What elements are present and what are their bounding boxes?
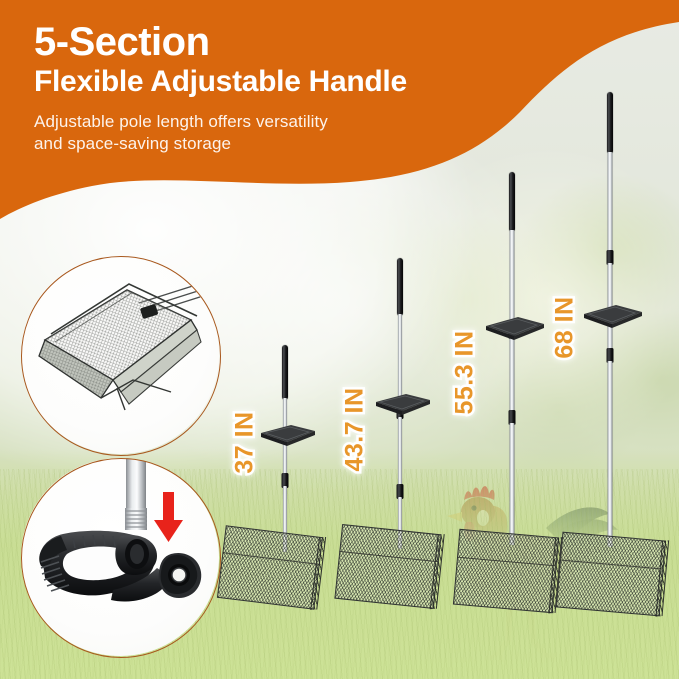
mesh-rake-head	[217, 525, 323, 609]
mesh-rake-head	[453, 529, 559, 613]
mesh-tray-illustration	[21, 256, 219, 454]
pole-shaft-lower	[510, 423, 515, 545]
measurement-label-55: 55.3 IN	[451, 308, 480, 438]
page-title: 5-Section	[34, 21, 554, 63]
product-infographic: 37 IN 43.7 IN 55.3 IN 68 IN 5-Section Fl…	[0, 0, 679, 679]
measurement-label-37: 37 IN	[231, 388, 260, 498]
page-subtitle-bold: Flexible Adjustable Handle	[34, 65, 554, 99]
mesh-rake-head	[556, 532, 666, 617]
banner-text-block: 5-Section Flexible Adjustable Handle Adj…	[34, 21, 554, 155]
measurement-text: 68 IN	[551, 296, 579, 358]
measurement-label-43: 43.7 IN	[341, 365, 370, 495]
measurement-text: 37 IN	[231, 411, 259, 473]
banner-description: Adjustable pole length offers versatilit…	[34, 111, 554, 156]
foot-plate	[372, 389, 434, 417]
foot-plate	[580, 300, 646, 330]
pole-shaft-mid	[398, 417, 402, 489]
banner-description-line1: Adjustable pole length offers versatilit…	[34, 111, 554, 133]
mesh-rake-head	[334, 524, 441, 609]
measurement-label-68: 68 IN	[551, 273, 580, 383]
banner-description-line2: and space-saving storage	[34, 133, 554, 155]
grip-handle-illustration	[21, 458, 219, 656]
pole-shaft-mid	[510, 337, 515, 415]
inset-mesh-tray	[21, 256, 219, 454]
pole-shaft-lower	[608, 361, 613, 547]
inset-grip-handle	[21, 458, 219, 656]
tighten-knob	[159, 553, 202, 598]
foot-plate	[257, 420, 319, 448]
measurement-text: 43.7 IN	[341, 387, 369, 471]
pole-grip	[397, 258, 403, 316]
measurement-text: 55.3 IN	[451, 330, 479, 414]
red-down-arrow	[154, 492, 183, 542]
foot-plate	[482, 312, 548, 342]
pole-grip	[282, 345, 288, 400]
